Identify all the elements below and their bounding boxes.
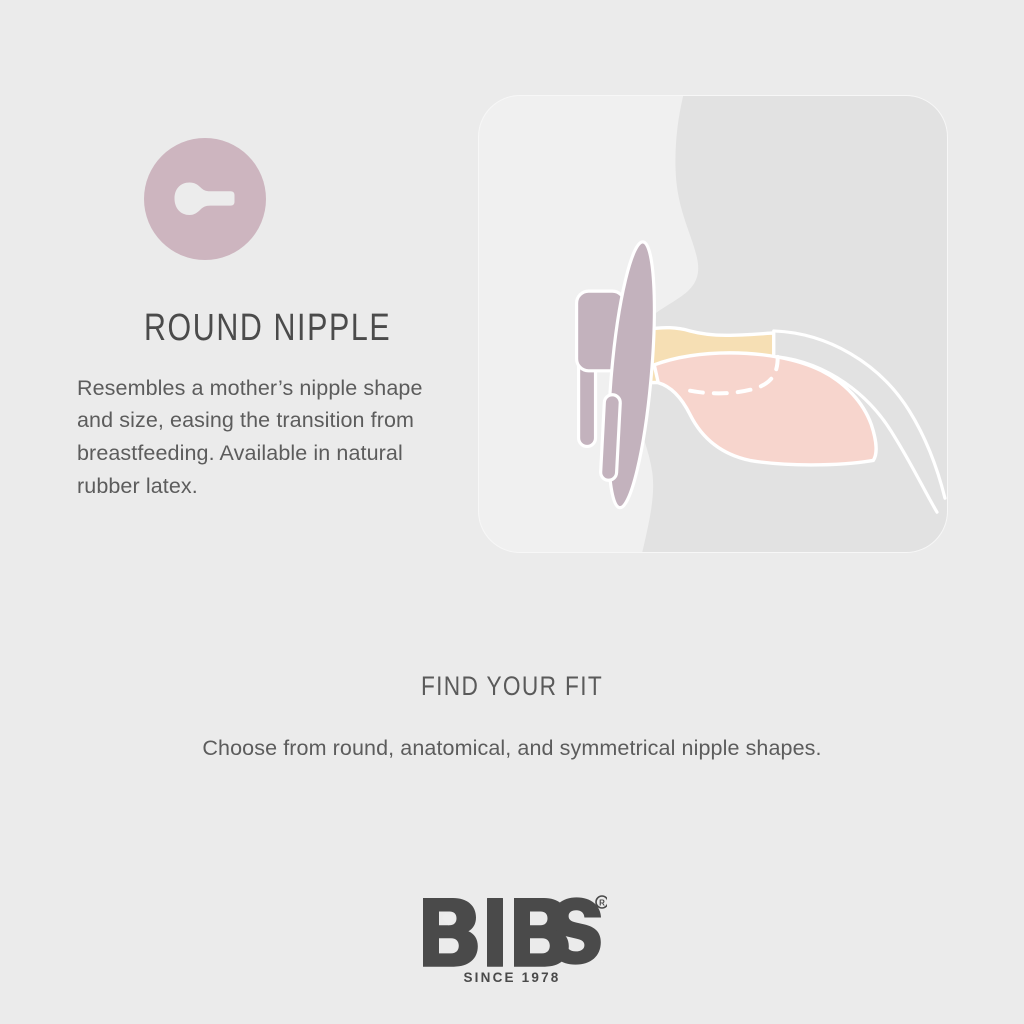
find-your-fit-title: FIND YOUR FIT	[82, 672, 942, 702]
find-your-fit-subtitle: Choose from round, anatomical, and symme…	[0, 736, 1024, 761]
pacifier-handle-front	[600, 394, 620, 480]
brand-logo: R SINCE 1978	[0, 893, 1024, 990]
illustration-card	[478, 95, 948, 553]
feature-description: Resembles a mother’s nipple shape and si…	[77, 372, 437, 503]
page-root: ROUND NIPPLE Resembles a mother’s nipple…	[0, 0, 1024, 1024]
find-your-fit-section: FIND YOUR FIT Choose from round, anatomi…	[0, 672, 1024, 761]
pacifier-cross-section-illustration	[479, 96, 947, 552]
feature-block: ROUND NIPPLE Resembles a mother’s nipple…	[72, 138, 442, 502]
feature-title: ROUND NIPPLE	[144, 308, 382, 350]
bibs-logo: R SINCE 1978	[417, 893, 607, 985]
heart-icon	[443, 914, 455, 926]
logo-tagline: SINCE 1978	[463, 970, 560, 985]
registered-trademark-icon: R	[596, 896, 607, 908]
round-nipple-shape-icon	[144, 138, 266, 260]
bibs-wordmark	[423, 897, 601, 966]
svg-text:R: R	[599, 898, 605, 907]
baby-head-silhouette	[628, 96, 947, 552]
